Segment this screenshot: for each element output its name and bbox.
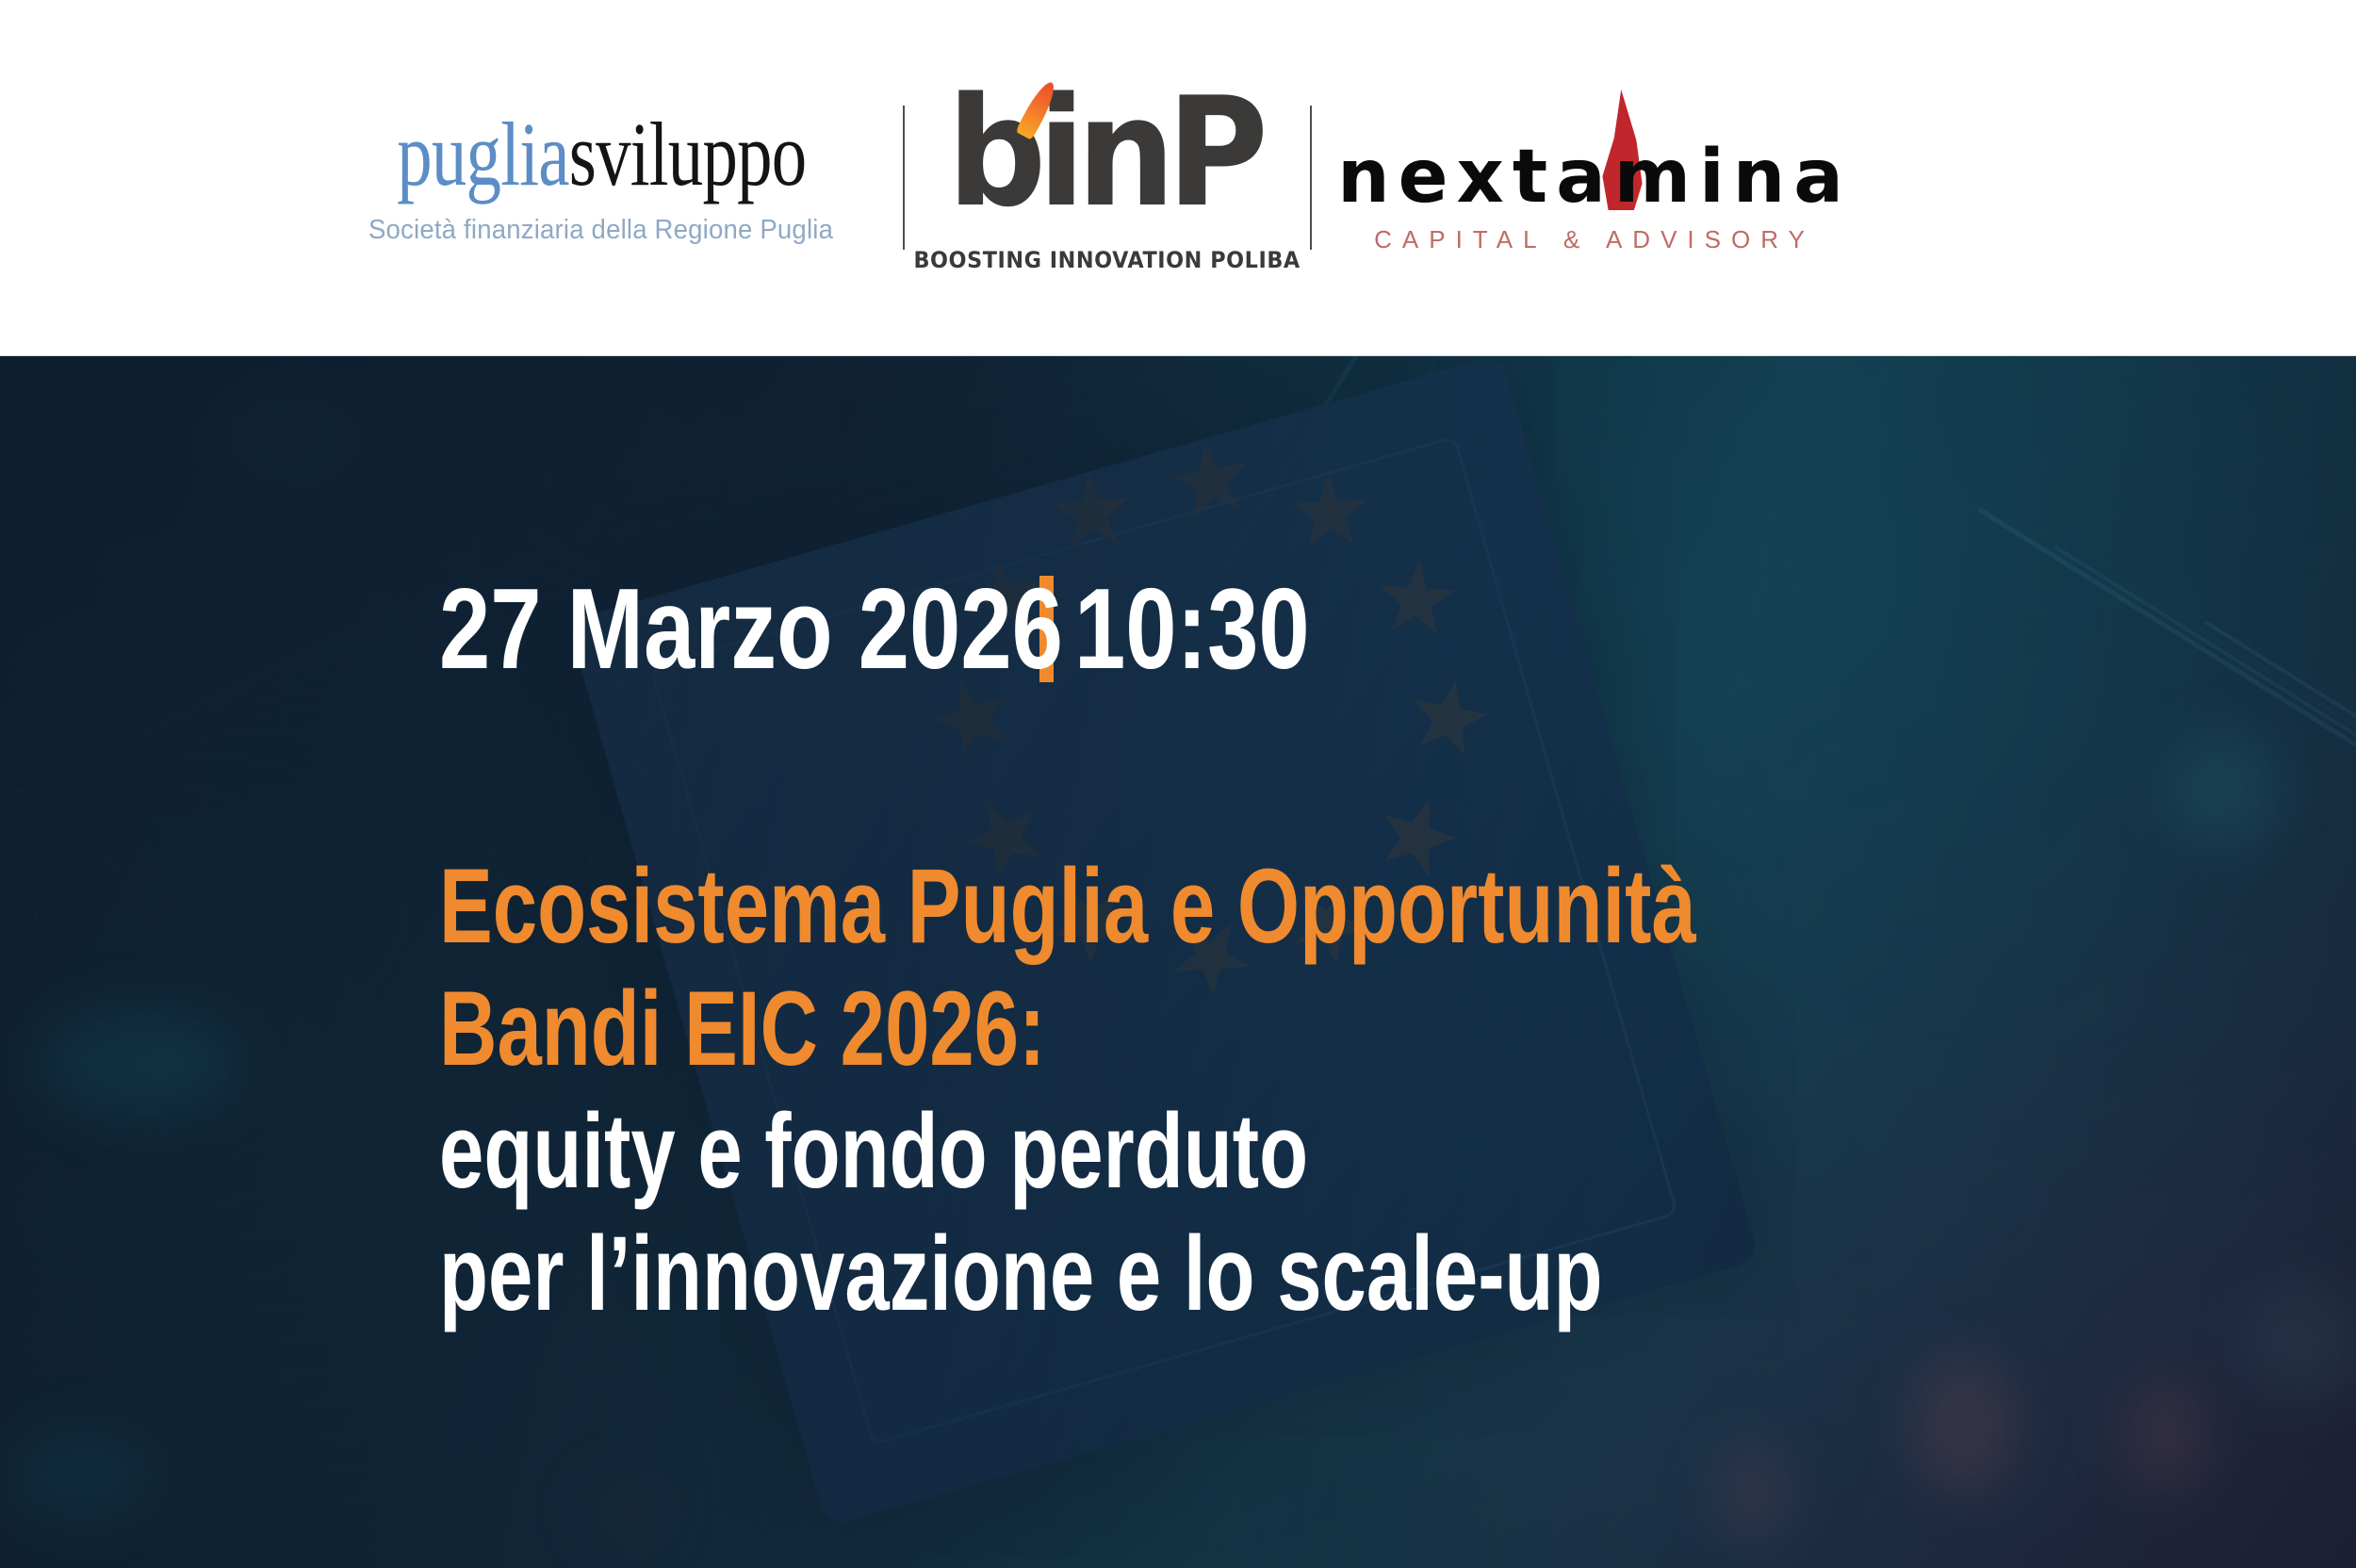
event-date: 27 Marzo 2026 — [439, 571, 1063, 686]
binp-mark: binP — [947, 83, 1268, 243]
nextamina-mark: nextamina — [1337, 101, 1852, 214]
event-datetime: 27 Marzo 2026 10:30 — [439, 571, 1368, 686]
nextamina-tagline: CAPITAL & ADVISORY — [1374, 225, 1815, 254]
pugliasviluppo-word-secondary: sviluppo — [568, 104, 806, 204]
event-time: 10:30 — [1074, 571, 1310, 686]
pugliasviluppo-tagline: Società finanziaria della Regione Puglia — [368, 215, 833, 246]
hero-text-block: 27 Marzo 2026 10:30 Ecosistema Puglia e … — [439, 356, 2230, 1568]
logo-binp: binP BOOSTING INNOVATION POLIBA — [905, 83, 1310, 273]
pugliasviluppo-word-primary: puglia — [397, 104, 568, 204]
event-title-line-2: Bandi EIC 2026: — [439, 976, 1045, 1082]
hero-section: 27 Marzo 2026 10:30 Ecosistema Puglia e … — [0, 356, 2356, 1568]
pugliasviluppo-wordmark: pugliasviluppo — [397, 109, 806, 200]
binp-tagline: BOOSTING INNOVATION POLIBA — [914, 247, 1301, 273]
event-subtitle-line-1: equity e fondo perduto — [439, 1099, 1308, 1204]
logo-header: pugliasviluppo Società finanziaria della… — [0, 0, 2356, 356]
logo-nextamina: nextamina CAPITAL & ADVISORY — [1312, 101, 1877, 254]
event-title-line-1: Ecosistema Puglia e Opportunità — [439, 854, 1696, 959]
binp-wordmark: binP — [947, 77, 1260, 228]
event-subtitle-line-2: per l’innovazione e lo scale-up — [439, 1221, 1603, 1327]
logo-pugliasviluppo: pugliasviluppo Società finanziaria della… — [300, 109, 903, 246]
nextamina-wordmark: nextamina — [1337, 140, 1852, 214]
event-banner: pugliasviluppo Società finanziaria della… — [0, 0, 2356, 1568]
